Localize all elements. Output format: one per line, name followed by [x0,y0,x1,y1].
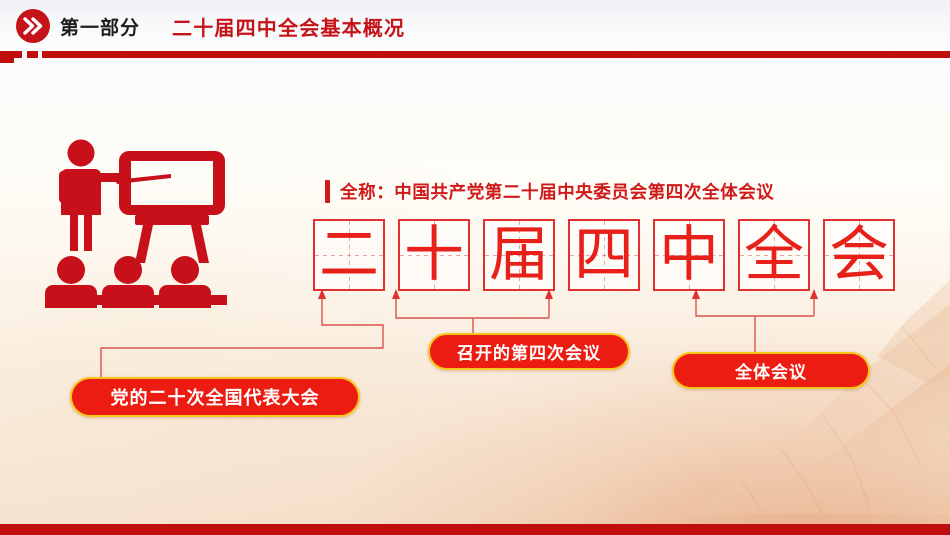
header-red-rule [0,51,950,58]
mountain-texture-decoration [390,264,950,524]
easel-tray [135,215,209,225]
whiteboard-frame [119,151,225,215]
callout-fourth-session-pill[interactable]: 召开的第四次会议 [428,333,630,370]
character-glyph: 二 [319,225,379,285]
character-glyph: 四 [574,225,634,285]
presenter-head [68,140,95,167]
character-box: 届 [483,219,555,291]
meeting-presentation-illustration [43,133,268,308]
rule-gap-2 [38,51,42,58]
section-label: 第一部分 [60,13,140,40]
character-box: 二 [313,219,385,291]
full-name-line: 全称：中国共产党第二十届中央委员会第四次全体会议 [325,179,774,204]
character-glyph: 十 [404,225,464,285]
easel-leg-right [191,225,209,263]
accent-bar [325,180,330,203]
character-box: 中 [653,219,725,291]
character-box: 全 [738,219,810,291]
presenter-left-arm [59,171,68,203]
slide-header [0,0,950,51]
character-glyph: 中 [659,225,719,285]
callout-plenary-pill[interactable]: 全体会议 [672,352,870,389]
character-glyph: 全 [744,225,804,285]
easel-leg-left [135,225,153,263]
character-glyph: 会 [829,225,889,285]
character-box: 会 [823,219,895,291]
header-rule-tail [0,58,14,63]
connector-fourth-bracket [396,297,549,318]
rule-gap-1 [22,51,27,58]
full-name-text: 全称：中国共产党第二十届中央委员会第四次全体会议 [340,179,774,204]
page-title: 二十届四中全会基本概况 [172,12,405,41]
audience-row [45,256,227,308]
character-glyph: 届 [489,225,549,285]
footer-bar [0,524,950,535]
character-box: 四 [568,219,640,291]
double-chevron-right-icon [16,9,50,43]
callout-congress-pill[interactable]: 党的二十次全国代表大会 [70,377,360,417]
connector-congress [101,297,383,377]
character-box-row: 二 十 届 四 中 全 会 [313,219,895,291]
slide-canvas: 第一部分 二十届四中全会基本概况 [0,0,950,535]
connector-plenary-bracket [696,297,814,316]
character-box: 十 [398,219,470,291]
